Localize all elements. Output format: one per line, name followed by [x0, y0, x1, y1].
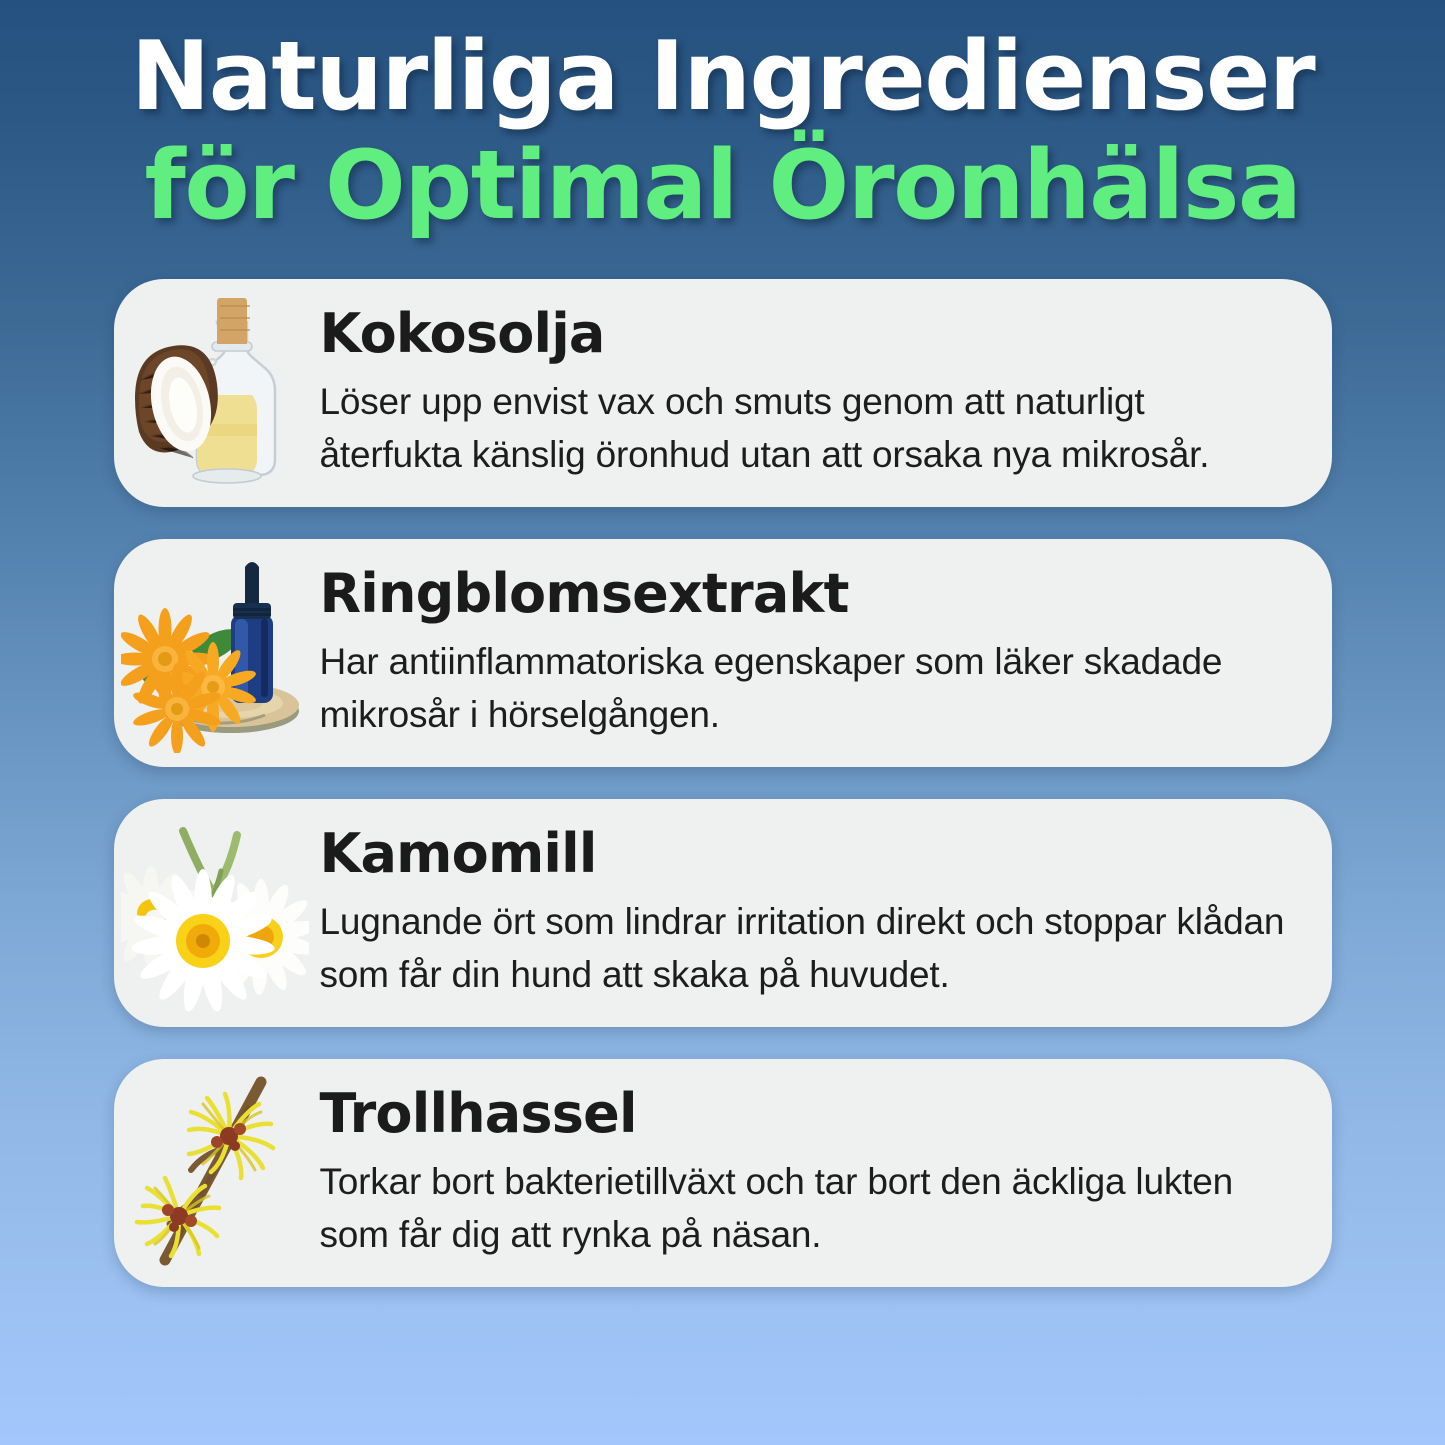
- card-body: Trollhassel Torkar bort bakterietillväxt…: [310, 1059, 1332, 1287]
- card-media: [114, 539, 310, 767]
- card-title: Trollhassel: [320, 1085, 1292, 1142]
- ingredient-card-list: Kokosolja Löser upp envist vax och smuts…: [0, 279, 1445, 1287]
- chamomile-flowers-image: [121, 813, 309, 1013]
- ingredient-card: Kokosolja Löser upp envist vax och smuts…: [114, 279, 1332, 507]
- card-description: Har antiinflammatoriska egenskaper som l…: [320, 636, 1292, 741]
- card-media: [114, 1059, 310, 1287]
- card-title: Kamomill: [320, 825, 1292, 882]
- title-line-accent: för Optimal Öronhälsa: [0, 135, 1445, 238]
- page-title: Naturliga Ingredienser för Optimal Öronh…: [0, 0, 1445, 237]
- infographic-poster: Naturliga Ingredienser för Optimal Öronh…: [0, 0, 1445, 1445]
- calendula-flowers-dropper-bottle-image: [121, 553, 309, 753]
- card-body: Kamomill Lugnande ört som lindrar irrita…: [310, 799, 1332, 1027]
- ingredient-card: Ringblomsextrakt Har antiinflammatoriska…: [114, 539, 1332, 767]
- coconut-oil-bottle-image: [121, 288, 309, 498]
- card-description: Löser upp envist vax och smuts genom att…: [320, 376, 1292, 481]
- card-media: [114, 279, 310, 507]
- card-body: Ringblomsextrakt Har antiinflammatoriska…: [310, 539, 1332, 767]
- ingredient-card: Kamomill Lugnande ört som lindrar irrita…: [114, 799, 1332, 1027]
- card-media: [114, 799, 310, 1027]
- ingredient-card: Trollhassel Torkar bort bakterietillväxt…: [114, 1059, 1332, 1287]
- card-description: Lugnande ört som lindrar irritation dire…: [320, 896, 1292, 1001]
- witch-hazel-branch-image: [121, 1070, 309, 1276]
- title-line-primary: Naturliga Ingredienser: [0, 26, 1445, 129]
- card-description: Torkar bort bakterietillväxt och tar bor…: [320, 1156, 1292, 1261]
- card-body: Kokosolja Löser upp envist vax och smuts…: [310, 279, 1332, 507]
- card-title: Ringblomsextrakt: [320, 565, 1292, 622]
- card-title: Kokosolja: [320, 305, 1292, 362]
